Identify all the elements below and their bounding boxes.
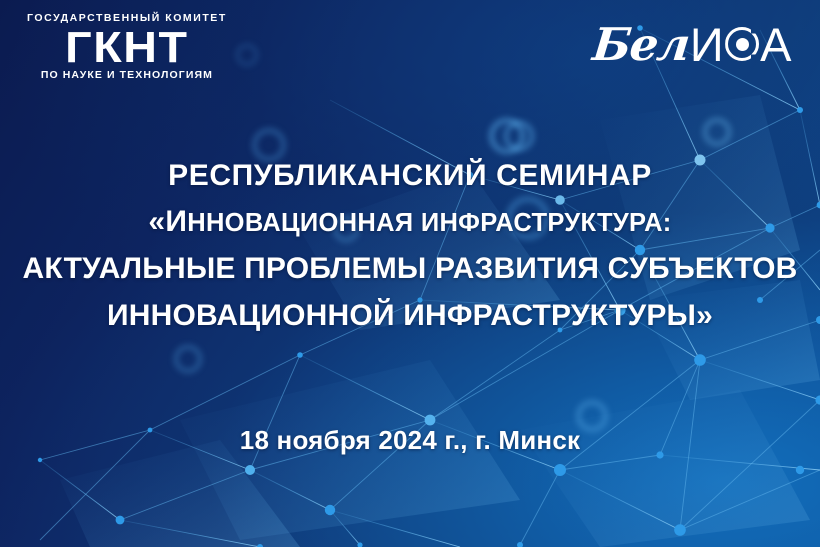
belisa-c-dot-icon (725, 27, 759, 61)
belisa-letter-i: И (690, 17, 724, 72)
title-line-2-prefix: «И (148, 205, 187, 238)
belisa-logo[interactable]: Бел И А (593, 16, 792, 72)
belisa-geometric-text: И А (690, 17, 792, 72)
title-line-3: АКТУАЛЬНЫЕ ПРОБЛЕМЫ РАЗВИТИЯ СУБЪЕКТОВ (0, 254, 820, 284)
belisa-script-text: Бел (591, 18, 692, 71)
seminar-banner: ГОСУДАРСТВЕННЫЙ КОМИТЕТ ГКНТ ПО НАУКЕ И … (0, 0, 820, 547)
belisa-center-dot (736, 38, 749, 51)
title-line-1: РЕСПУБЛИКАНСКИЙ СЕМИНАР (0, 161, 820, 191)
event-dateline: 18 ноября 2024 г., г. Минск (0, 425, 820, 456)
title-line-2-smallcaps: ННОВАЦИОННАЯ ИНФРАСТРУКТУРА: (187, 209, 671, 237)
belisa-letter-a: А (760, 17, 792, 72)
gknt-acronym: ГКНТ (21, 26, 233, 69)
seminar-title: РЕСПУБЛИКАНСКИЙ СЕМИНАР «ИННОВАЦИОННАЯ И… (0, 161, 820, 331)
title-line-2: «ИННОВАЦИОННАЯ ИНФРАСТРУКТУРА: (0, 207, 820, 237)
title-line-4: ИННОВАЦИОННОЙ ИНФРАСТРУКТУРЫ» (0, 301, 820, 331)
gknt-logo[interactable]: ГОСУДАРСТВЕННЫЙ КОМИТЕТ ГКНТ ПО НАУКЕ И … (27, 13, 227, 80)
